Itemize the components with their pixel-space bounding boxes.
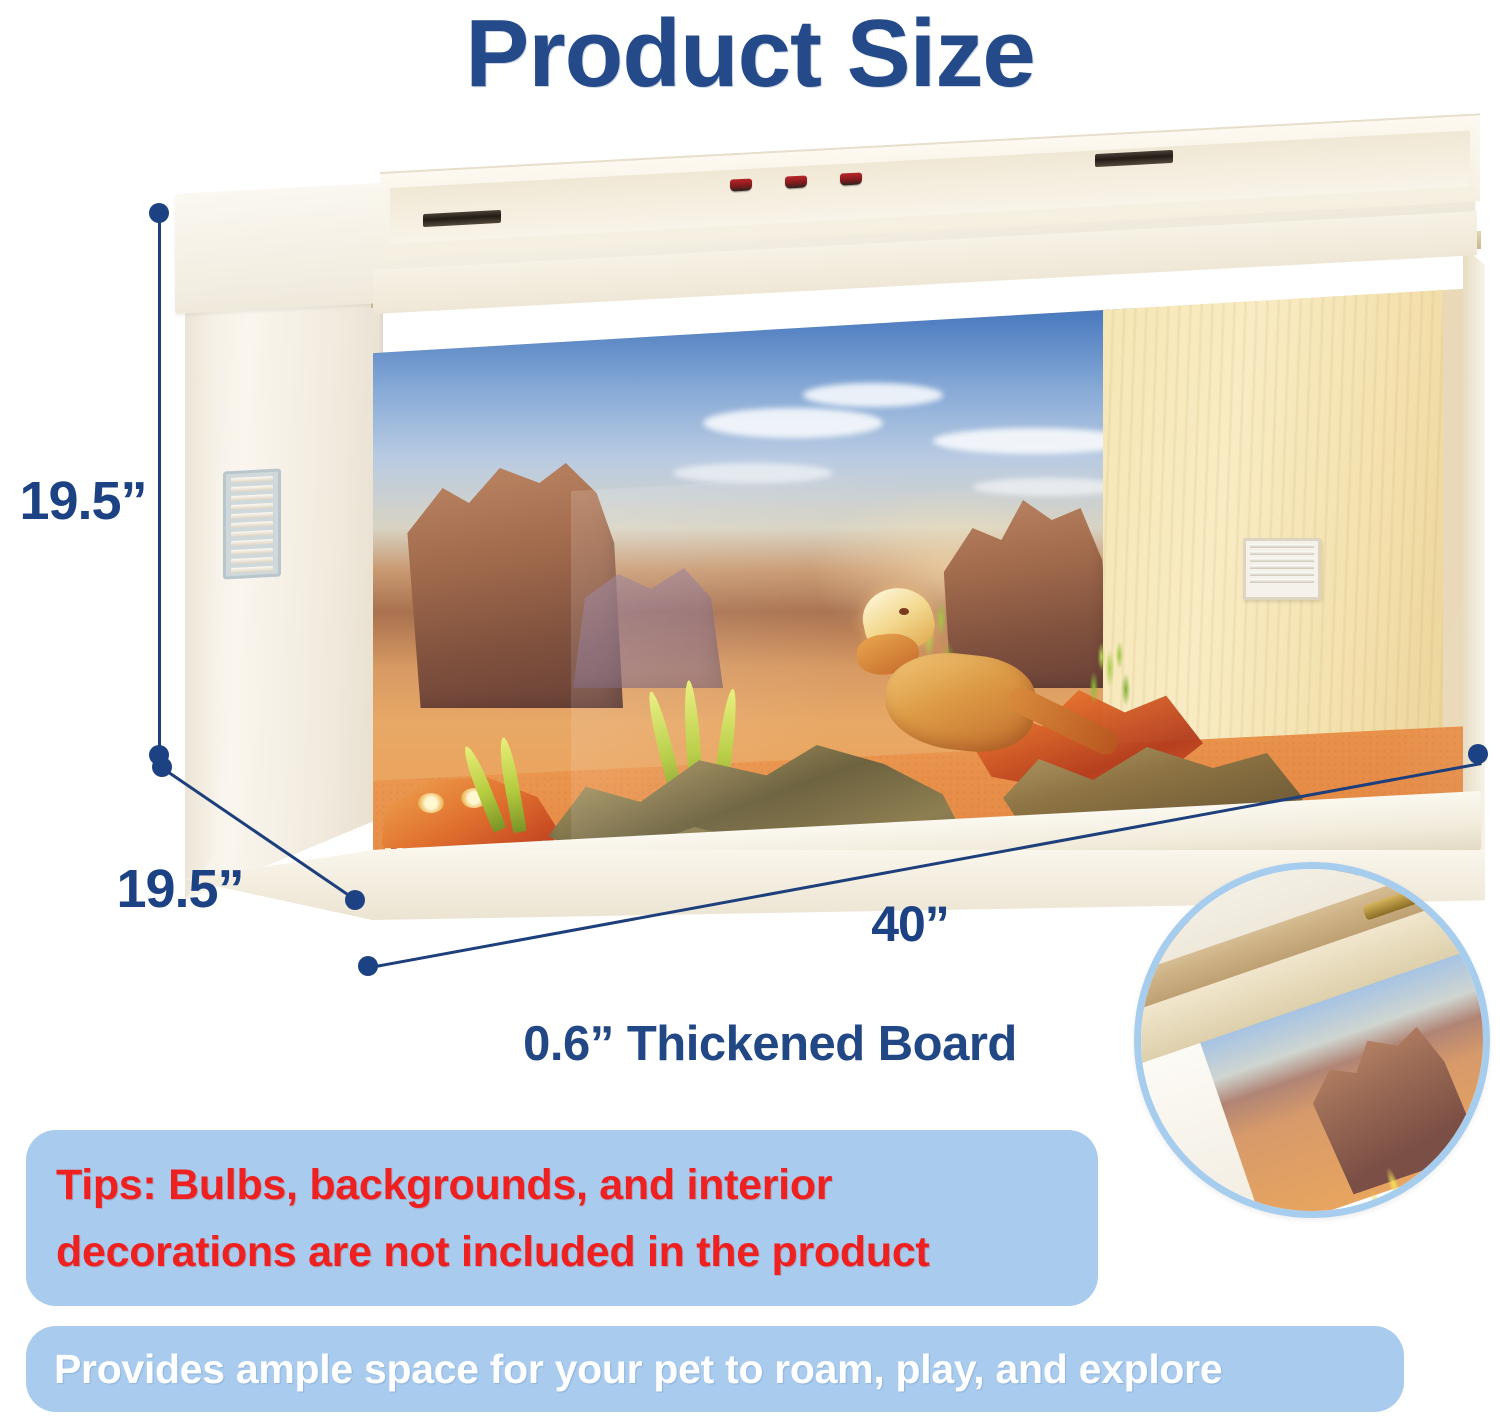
width-dimension-endpoint (1468, 744, 1488, 764)
height-dimension-label: 19.5” (8, 470, 158, 532)
cloud (803, 383, 943, 407)
width-dimension-endpoint (358, 956, 378, 976)
board-thickness-detail-inset (1134, 862, 1490, 1218)
decor-fern-plant (1081, 630, 1145, 726)
product-photo (175, 150, 1485, 975)
width-dimension-label: 40” (800, 895, 1020, 953)
interior-ventilation-grille-icon (1243, 538, 1321, 600)
tips-line-2: decorations are not included in the prod… (56, 1219, 1070, 1286)
bearded-dragon-figure (813, 588, 1063, 838)
cloud (973, 478, 1123, 496)
page-title: Product Size (0, 4, 1500, 105)
height-dimension-line (158, 215, 161, 755)
space-banner: Provides ample space for your pet to roa… (26, 1326, 1404, 1412)
power-switch-icon[interactable] (840, 172, 862, 185)
power-switch-icon[interactable] (730, 178, 752, 191)
side-ventilation-grille-icon (223, 468, 281, 579)
space-line-1: Provides ample space for your pet to roa… (54, 1346, 1222, 1393)
dragon-eye (899, 608, 909, 615)
cloud (673, 463, 833, 483)
board-thickness-label: 0.6” Thickened Board (400, 1016, 1140, 1072)
skull-eye (418, 793, 444, 813)
enclosure-left-edge (185, 210, 215, 900)
cloud (703, 408, 883, 438)
depth-dimension-endpoint (345, 890, 365, 910)
tips-banner: Tips: Bulbs, backgrounds, and interior d… (26, 1130, 1098, 1306)
depth-dimension-endpoint (152, 757, 172, 777)
depth-dimension-label: 19.5” (75, 858, 285, 920)
product-size-infographic: Product Size (0, 0, 1500, 1424)
tips-line-1: Tips: Bulbs, backgrounds, and interior (56, 1152, 1070, 1219)
height-dimension-endpoint (149, 203, 169, 223)
enclosure-right-rail (1463, 246, 1485, 882)
power-switch-icon[interactable] (785, 175, 807, 188)
